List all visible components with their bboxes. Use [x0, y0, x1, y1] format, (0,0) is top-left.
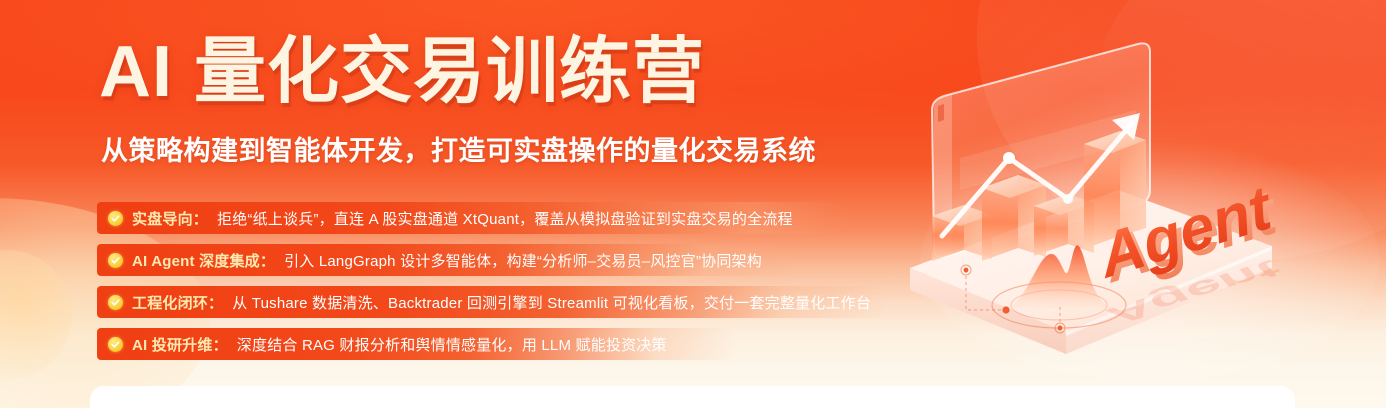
- feature-description: 从 Tushare 数据清洗、Backtrader 回测引擎到 Streamli…: [232, 292, 871, 313]
- check-circle-icon: [108, 253, 123, 268]
- bottom-content-card: [90, 386, 1295, 408]
- feature-list: 实盘导向： 拒绝“纸上谈兵”，直连 A 股实盘通道 XtQuant，覆盖从模拟盘…: [97, 202, 887, 370]
- course-promo-banner: Agent Agent Agent AI 量化交易训练营 从策略构建到智能体开发…: [0, 0, 1386, 408]
- banner-subtitle: 从策略构建到智能体开发，打造可实盘操作的量化交易系统: [101, 133, 816, 169]
- feature-label: AI Agent 深度集成：: [132, 250, 275, 271]
- feature-row-4: AI 投研升维： 深度结合 RAG 财报分析和舆情情感量化，用 LLM 赋能投资…: [97, 328, 737, 360]
- feature-label: AI 投研升维：: [132, 334, 228, 355]
- feature-label: 实盘导向：: [132, 208, 208, 229]
- agent-3d-illustration: Agent Agent Agent: [900, 10, 1386, 390]
- feature-label: 工程化闭环：: [132, 292, 223, 313]
- feature-row-2: AI Agent 深度集成： 引入 LangGraph 设计多智能体，构建“分析…: [97, 244, 797, 276]
- feature-description: 引入 LangGraph 设计多智能体，构建“分析师–交易员–风控官”协同架构: [284, 250, 762, 271]
- feature-description: 深度结合 RAG 财报分析和舆情情感量化，用 LLM 赋能投资决策: [237, 334, 667, 355]
- feature-description: 拒绝“纸上谈兵”，直连 A 股实盘通道 XtQuant，覆盖从模拟盘验证到实盘交…: [217, 208, 793, 229]
- feature-row-3: 工程化闭环： 从 Tushare 数据清洗、Backtrader 回测引擎到 S…: [97, 286, 887, 318]
- banner-title: AI 量化交易训练营: [99, 30, 705, 114]
- check-circle-icon: [108, 295, 123, 310]
- check-circle-icon: [108, 211, 123, 226]
- feature-row-1: 实盘导向： 拒绝“纸上谈兵”，直连 A 股实盘通道 XtQuant，覆盖从模拟盘…: [97, 202, 847, 234]
- check-circle-icon: [108, 337, 123, 352]
- banner-content: AI 量化交易训练营 从策略构建到智能体开发，打造可实盘操作的量化交易系统 实盘…: [0, 0, 900, 408]
